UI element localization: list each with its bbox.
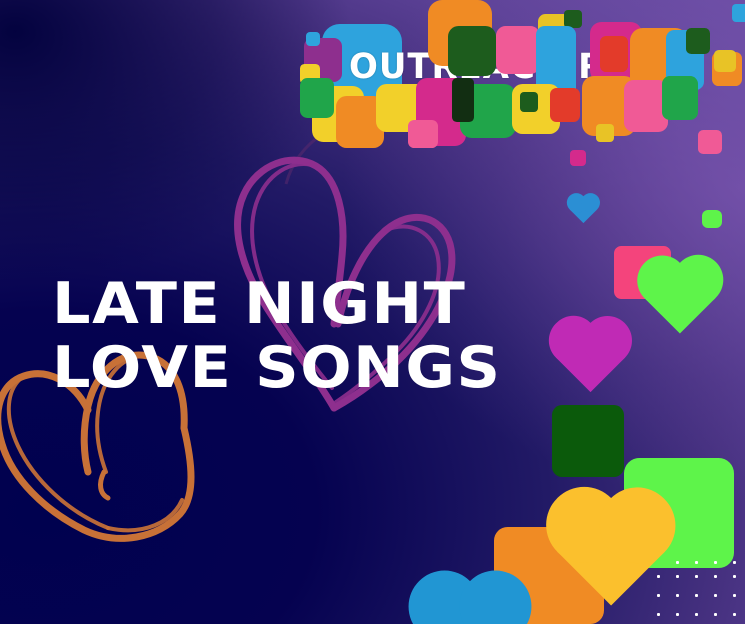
mosaic-tile (452, 78, 474, 122)
title-line-2: LOVE SONGS (52, 341, 502, 395)
mosaic-tile (698, 130, 722, 154)
title-line-1: LATE NIGHT (52, 277, 502, 331)
mosaic-tile (714, 50, 736, 72)
magenta-heart-icon (556, 315, 624, 383)
green-mini-square (702, 210, 722, 228)
mosaic-tile (686, 28, 710, 54)
mosaic-tile (520, 92, 538, 112)
mosaic-tile (596, 124, 614, 142)
poster-canvas: OUTREACH RADIO LATE NIGHT LOVE SONGS (0, 0, 745, 624)
mosaic-tile (300, 78, 334, 118)
mosaic-tile (600, 36, 628, 72)
mosaic-tile (662, 76, 698, 120)
mosaic-tile (732, 4, 745, 22)
mosaic-tile (550, 88, 580, 122)
heart-shape (419, 581, 521, 624)
mosaic-tile (306, 32, 320, 46)
green-heart-icon (645, 255, 715, 325)
mosaic-tile (448, 26, 496, 76)
dark-green-square (552, 405, 624, 477)
heart-shape (570, 196, 597, 223)
mosaic-tile (570, 150, 586, 166)
mosaic-tile (496, 26, 540, 74)
heart-shape (555, 323, 624, 392)
blue-small-heart-icon (570, 193, 597, 220)
mosaic-tile (408, 120, 438, 148)
blue-heart-icon (420, 570, 520, 624)
page-title: LATE NIGHT LOVE SONGS (52, 277, 476, 395)
heart-shape (644, 263, 715, 334)
dot-grid-icon (646, 563, 745, 624)
